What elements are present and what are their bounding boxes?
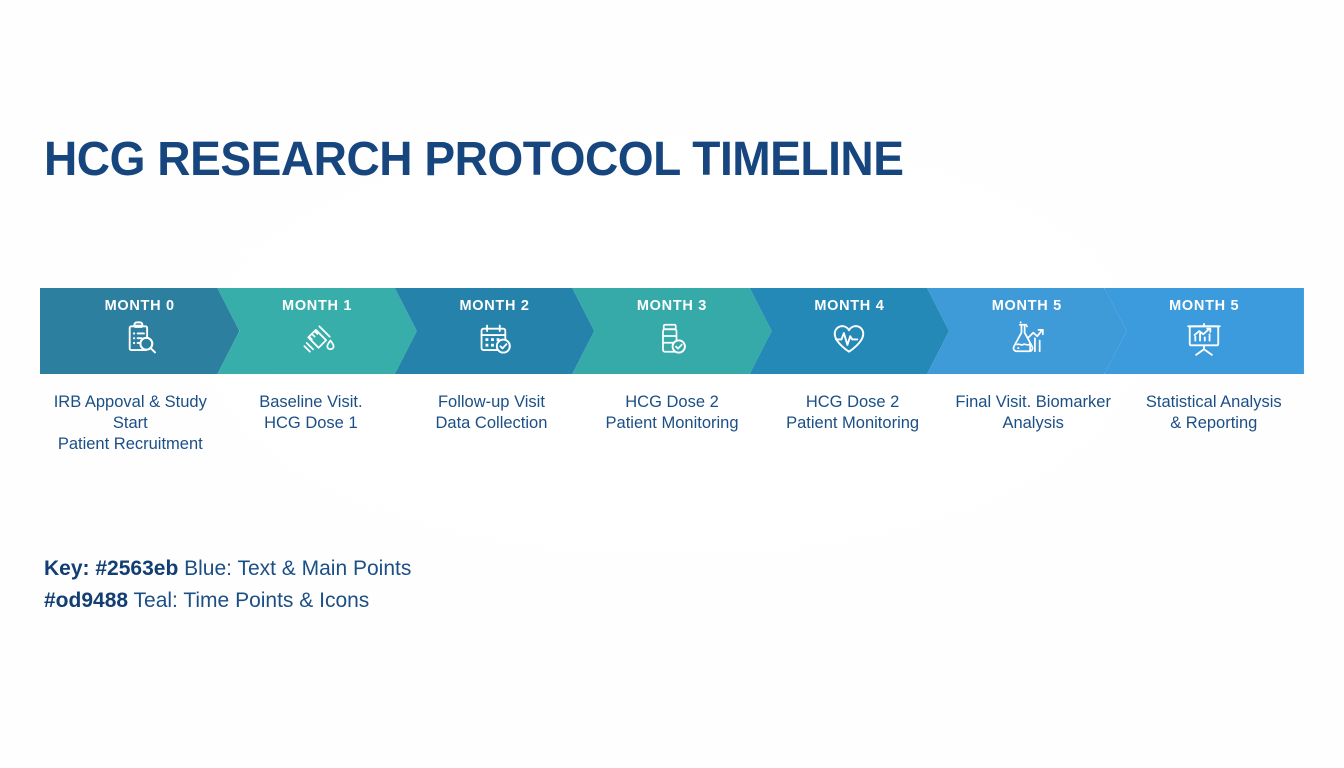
page-title: HCG RESEARCH PROTOCOL TIMELINE [44, 131, 903, 189]
slide-canvas: HCG RESEARCH PROTOCOL TIMELINE MONTH 0 [0, 0, 1344, 768]
key-row-blue: Key: #2563eb Blue: Text & Main Points [44, 553, 411, 585]
caption-line-2: Data Collection [405, 413, 578, 434]
caption-line-2: Patient Monitoring [586, 413, 759, 434]
heart-pulse-icon [826, 318, 872, 360]
caption-line-1: Follow-up Visit [438, 393, 545, 411]
presentation-chart-icon [1181, 318, 1227, 360]
key-teal-hex: #od9488 [44, 589, 128, 612]
timeline-step-label: MONTH 0 [105, 298, 175, 314]
timeline-caption-month-5-biomarker: Final Visit. Biomarker Analysis [943, 392, 1124, 455]
timeline-step-month-4[interactable]: MONTH 4 [750, 288, 949, 374]
timeline-step-label: MONTH 5 [992, 298, 1062, 314]
flask-chart-icon [1004, 318, 1050, 360]
caption-line-1: HCG Dose 2 [625, 393, 719, 411]
key-blue-description: Blue: Text & Main Points [184, 557, 411, 580]
key-label: Key: [44, 557, 90, 580]
timeline-step-month-3[interactable]: MONTH 3 [572, 288, 771, 374]
timeline-step-month-2[interactable]: MONTH 2 [395, 288, 594, 374]
timeline-caption-month-0: IRB Appoval & Study Start Patient Recrui… [40, 392, 221, 455]
caption-line-1: Baseline Visit. [259, 393, 362, 411]
caption-line-1: HCG Dose 2 [806, 393, 900, 411]
syringe-icon [294, 318, 340, 360]
timeline-caption-month-2: Follow-up Visit Data Collection [401, 392, 582, 455]
timeline-step-label: MONTH 1 [282, 298, 352, 314]
timeline-caption-month-4: HCG Dose 2 Patient Monitoring [762, 392, 943, 455]
timeline-band: MONTH 0 MONTH 1 [40, 288, 1304, 374]
timeline-step-month-5-biomarker[interactable]: MONTH 5 [927, 288, 1126, 374]
caption-line-1: Statistical Analysis [1146, 393, 1282, 411]
timeline-step-label: MONTH 3 [637, 298, 707, 314]
key-row-teal: #od9488 Teal: Time Points & Icons [44, 585, 411, 617]
clipboard-magnifier-icon [117, 318, 163, 360]
calendar-check-icon [472, 318, 518, 360]
caption-line-2: Patient Recruitment [44, 434, 217, 455]
timeline-caption-month-3: HCG Dose 2 Patient Monitoring [582, 392, 763, 455]
timeline-captions: IRB Appoval & Study Start Patient Recrui… [40, 392, 1304, 455]
timeline-caption-month-1: Baseline Visit. HCG Dose 1 [221, 392, 402, 455]
pill-bottle-check-icon [649, 318, 695, 360]
timeline-caption-month-5-reporting: Statistical Analysis & Reporting [1123, 392, 1304, 455]
timeline-step-month-5-reporting[interactable]: MONTH 5 [1105, 288, 1304, 374]
color-key: Key: #2563eb Blue: Text & Main Points #o… [44, 553, 411, 617]
caption-line-2: Patient Monitoring [766, 413, 939, 434]
timeline-step-label: MONTH 5 [1169, 298, 1239, 314]
timeline-step-month-1[interactable]: MONTH 1 [217, 288, 416, 374]
caption-line-2: HCG Dose 1 [225, 413, 398, 434]
timeline-step-label: MONTH 2 [459, 298, 529, 314]
caption-line-2: Analysis [947, 413, 1120, 434]
caption-line-1: Final Visit. Biomarker [955, 393, 1111, 411]
key-teal-description: Teal: Time Points & Icons [134, 589, 370, 612]
timeline-step-month-0[interactable]: MONTH 0 [40, 288, 239, 374]
caption-line-1: IRB Appoval & Study Start [54, 393, 207, 432]
caption-line-2: & Reporting [1127, 413, 1300, 434]
key-blue-hex: #2563eb [95, 557, 178, 580]
timeline-step-label: MONTH 4 [814, 298, 884, 314]
